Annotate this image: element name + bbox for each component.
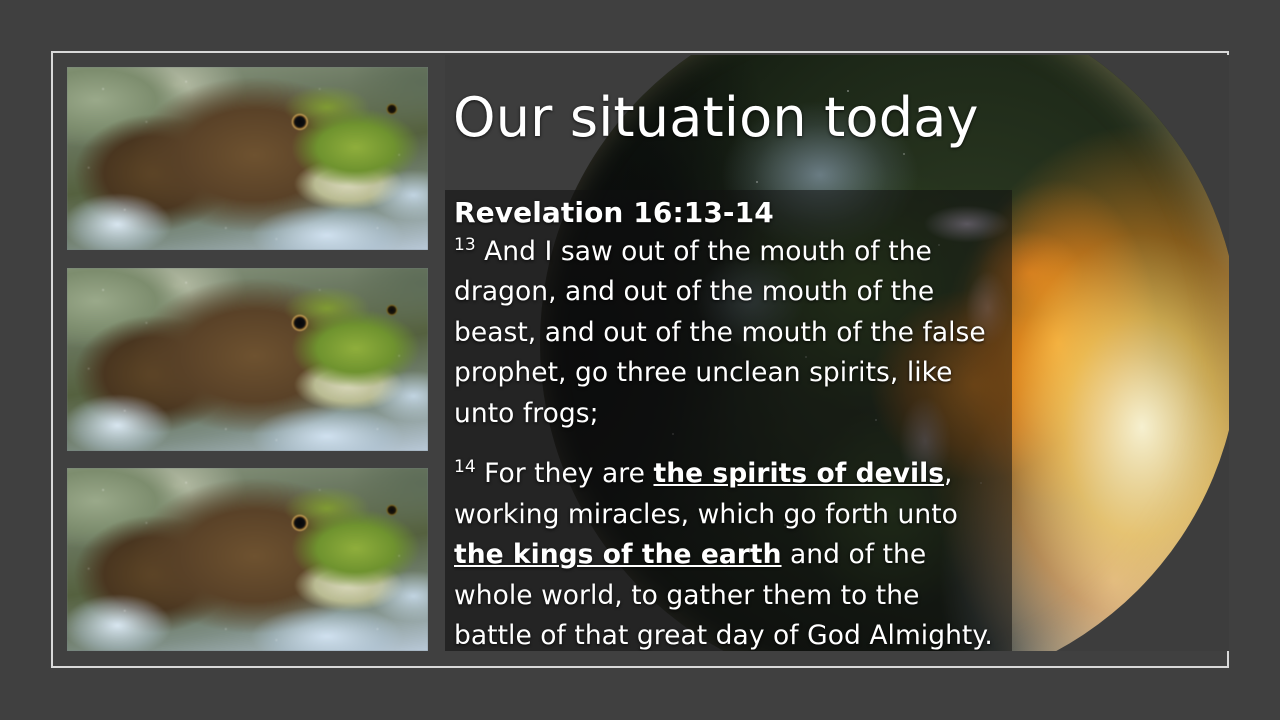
- frog-photo-3: [67, 468, 428, 651]
- presentation-slide: Our situation today Revelation 16:13-14 …: [0, 0, 1280, 720]
- frog-photo-2: [67, 268, 428, 451]
- verse-paragraph: 14 For they are the spirits of devils, w…: [454, 454, 1002, 651]
- frog-image-3: [67, 468, 428, 651]
- page-title: Our situation today: [453, 91, 1193, 145]
- content-area: Our situation today Revelation 16:13-14 …: [445, 55, 1229, 651]
- scripture-reference: Revelation 16:13-14: [454, 196, 1002, 230]
- verse-paragraph: 13 And I saw out of the mouth of the dra…: [454, 232, 1002, 435]
- frog-photo-column: [67, 67, 428, 651]
- emphasized-phrase: the kings of the earth: [454, 539, 782, 570]
- scripture-verses: 13 And I saw out of the mouth of the dra…: [454, 232, 1002, 651]
- emphasized-phrase: the spirits of devils: [653, 458, 944, 489]
- frog-image-2: [67, 268, 428, 451]
- verse-number: 14: [454, 457, 476, 477]
- scripture-panel: Revelation 16:13-14 13 And I saw out of …: [445, 190, 1012, 651]
- scripture-text-block: Revelation 16:13-14 13 And I saw out of …: [454, 196, 1002, 651]
- verse-number: 13: [454, 235, 476, 255]
- frog-image-1: [67, 67, 428, 250]
- frog-photo-1: [67, 67, 428, 250]
